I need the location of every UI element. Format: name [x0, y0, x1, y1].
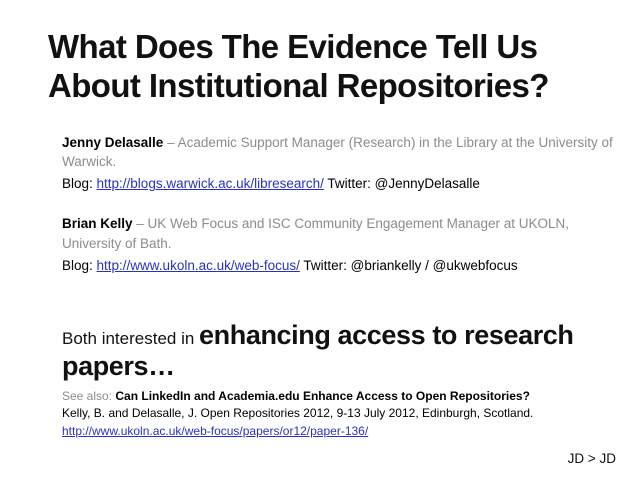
blog-link[interactable]: http://www.ukoln.ac.uk/web-focus/ — [97, 258, 300, 273]
bio-brian-kelly: Brian Kelly – UK Web Focus and ISC Commu… — [62, 214, 622, 274]
slide-canvas: What Does The Evidence Tell Us About Ins… — [0, 0, 640, 480]
presenter-name: Jenny Delasalle — [62, 135, 163, 150]
bio-jenny-delasalle: Jenny Delasalle – Academic Support Manag… — [62, 133, 622, 193]
footnote-url-line: http://www.ukoln.ac.uk/web-focus/papers/… — [62, 423, 622, 440]
twitter-handle: Twitter: @JennyDelasalle — [324, 176, 480, 191]
blog-link[interactable]: http://blogs.warwick.ac.uk/libresearch/ — [97, 176, 324, 191]
bio-intro-line: Brian Kelly – UK Web Focus and ISC Commu… — [62, 214, 622, 252]
blog-label: Blog: — [62, 176, 97, 191]
bio-contact-line: Blog: http://www.ukoln.ac.uk/web-focus/ … — [62, 256, 622, 275]
presenter-name: Brian Kelly — [62, 216, 133, 231]
page-title: What Does The Evidence Tell Us About Ins… — [48, 28, 608, 105]
presenter-dash: – — [133, 216, 148, 231]
presenter-dash: – — [163, 135, 177, 150]
footnote-citation: Kelly, B. and Delasalle, J. Open Reposit… — [62, 405, 622, 422]
footnote-paper-title: Can LinkedIn and Academia.edu Enhance Ac… — [115, 389, 530, 403]
blog-label: Blog: — [62, 258, 97, 273]
twitter-handle: Twitter: @briankelly / @ukwebfocus — [300, 258, 518, 273]
slide-footer: JD > JD — [568, 451, 616, 466]
footnote-title-line: See also: Can LinkedIn and Academia.edu … — [62, 388, 622, 405]
footnote-link[interactable]: http://www.ukoln.ac.uk/web-focus/papers/… — [62, 424, 368, 438]
bio-contact-line: Blog: http://blogs.warwick.ac.uk/librese… — [62, 174, 622, 193]
footnote-reference: See also: Can LinkedIn and Academia.edu … — [62, 388, 622, 440]
key-statement: Both interested in enhancing access to r… — [62, 320, 602, 383]
title-line-2: About Institutional Repositories? — [48, 67, 608, 106]
see-also-label: See also: — [62, 389, 115, 403]
bio-intro-line: Jenny Delasalle – Academic Support Manag… — [62, 133, 622, 171]
statement-lead: Both interested in — [62, 329, 199, 348]
title-line-1: What Does The Evidence Tell Us — [48, 28, 608, 67]
presenter-bios: Jenny Delasalle – Academic Support Manag… — [62, 133, 622, 275]
